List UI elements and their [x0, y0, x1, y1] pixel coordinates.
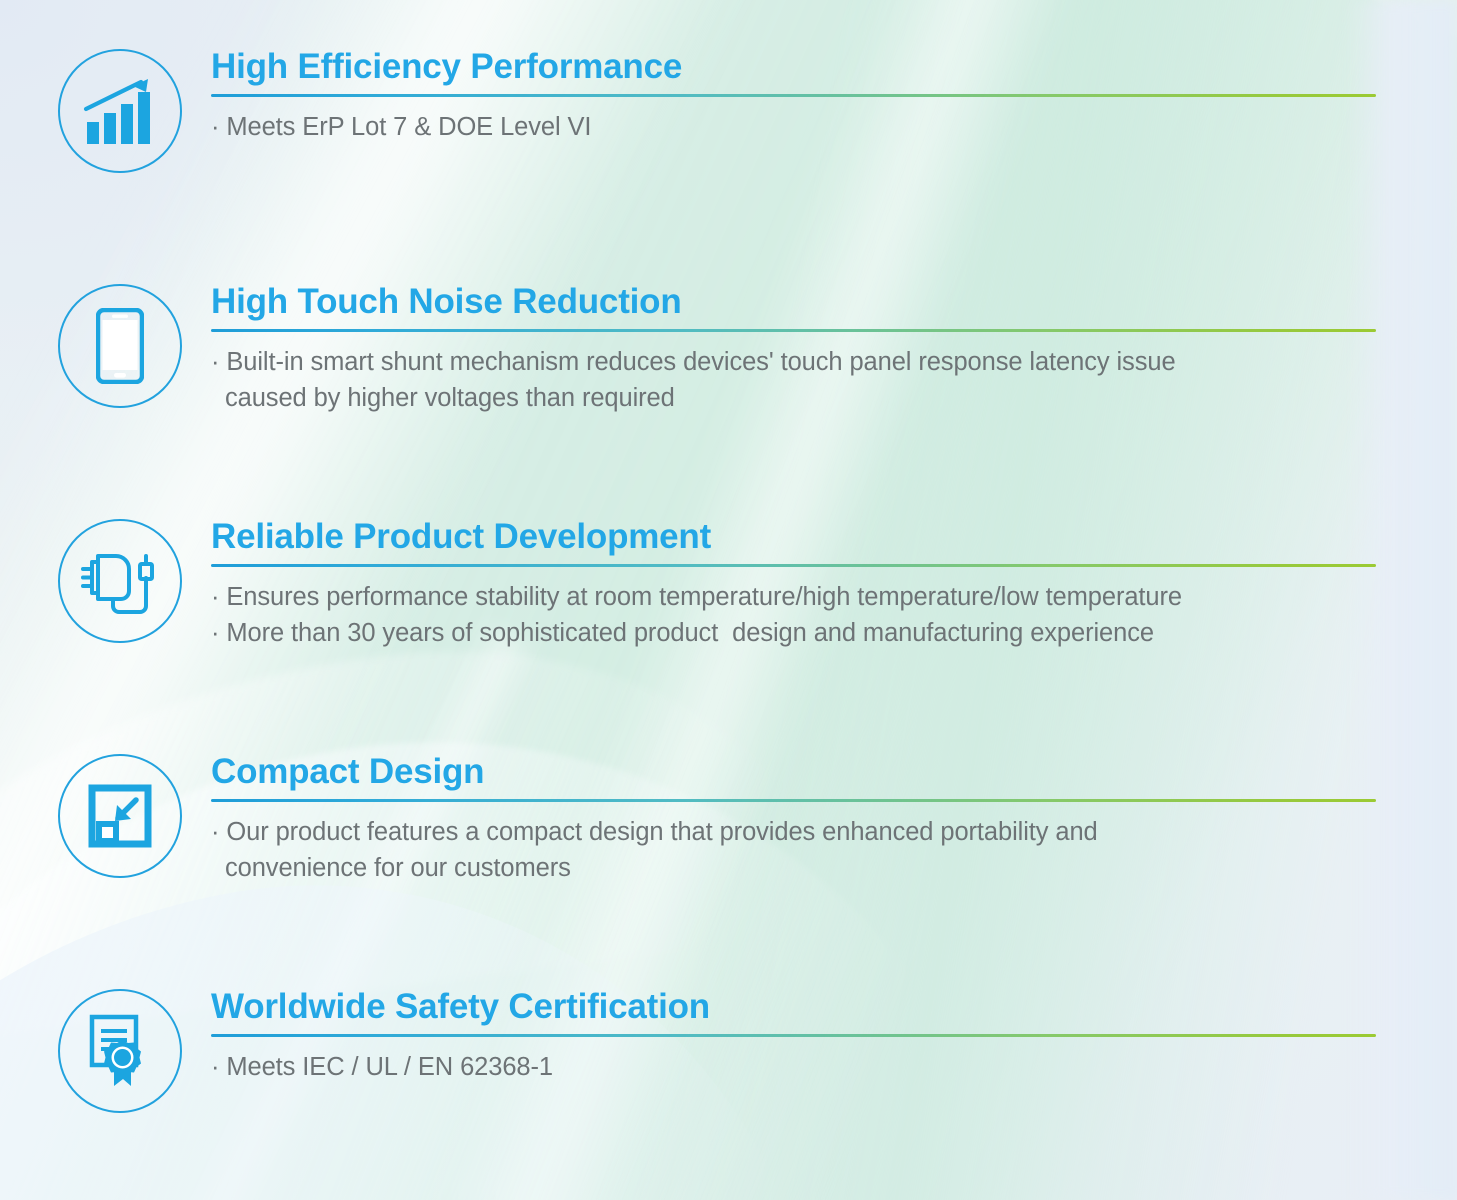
background-swoosh-main: [0, 656, 1031, 1200]
background-streak-mid: [162, 620, 542, 1200]
smartphone-icon: [58, 284, 182, 408]
compact-resize-icon: [58, 754, 182, 878]
certificate-award-icon: [58, 989, 182, 1113]
background-streak-left: [0, 0, 60, 653]
feature-title: High Touch Noise Reduction: [211, 283, 1376, 321]
feature-description-line: · More than 30 years of sophisticated pr…: [211, 615, 1376, 651]
feature-description-list: · Our product features a compact design …: [211, 814, 1376, 886]
feature-description-line: · Built-in smart shunt mechanism reduces…: [211, 344, 1376, 380]
feature-title: Worldwide Safety Certification: [211, 988, 1376, 1026]
feature-title: High Efficiency Performance: [211, 48, 1376, 86]
feature-icon-wrap: [57, 48, 183, 174]
feature-divider: [211, 564, 1376, 567]
feature-body: High Efficiency Performance · Meets ErP …: [211, 48, 1376, 145]
bar-chart-growth-icon: [58, 49, 182, 173]
feature-icon-wrap: [57, 988, 183, 1114]
feature-description-line: convenience for our customers: [211, 850, 1376, 886]
feature-title: Compact Design: [211, 753, 1376, 791]
feature-title: Reliable Product Development: [211, 518, 1376, 556]
feature-divider: [211, 329, 1376, 332]
feature-body: High Touch Noise Reduction · Built-in sm…: [211, 283, 1376, 416]
feature-description-line: · Meets ErP Lot 7 & DOE Level VI: [211, 109, 1376, 145]
feature-description-line: caused by higher voltages than required: [211, 380, 1376, 416]
feature-icon-wrap: [57, 518, 183, 644]
feature-list-page: High Efficiency Performance · Meets ErP …: [0, 0, 1457, 1200]
feature-description-line: · Ensures performance stability at room …: [211, 579, 1376, 615]
feature-body: Reliable Product Development · Ensures p…: [211, 518, 1376, 651]
power-adapter-icon: [58, 519, 182, 643]
feature-icon-wrap: [57, 283, 183, 409]
feature-divider: [211, 1034, 1376, 1037]
feature-description-list: · Meets ErP Lot 7 & DOE Level VI: [211, 109, 1376, 145]
feature-description-list: · Ensures performance stability at room …: [211, 579, 1376, 651]
feature-description-line: · Meets IEC / UL / EN 62368-1: [211, 1049, 1376, 1085]
feature-divider: [211, 94, 1376, 97]
feature-body: Worldwide Safety Certification · Meets I…: [211, 988, 1376, 1085]
feature-description-list: · Built-in smart shunt mechanism reduces…: [211, 344, 1376, 416]
feature-description-list: · Meets IEC / UL / EN 62368-1: [211, 1049, 1376, 1085]
feature-icon-wrap: [57, 753, 183, 879]
feature-body: Compact Design · Our product features a …: [211, 753, 1376, 886]
feature-divider: [211, 799, 1376, 802]
feature-description-line: · Our product features a compact design …: [211, 814, 1376, 850]
